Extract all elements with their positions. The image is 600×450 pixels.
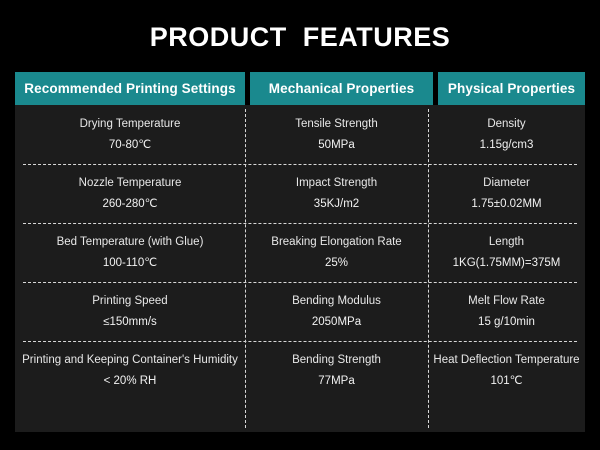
table-row: Bed Temperature (with Glue) 100-110℃ Bre… xyxy=(15,223,585,282)
cell-value: ≤150mm/s xyxy=(103,315,157,329)
cell-value: 100-110℃ xyxy=(103,256,157,270)
cell-label: Bed Temperature (with Glue) xyxy=(57,235,204,249)
cell-label: Nozzle Temperature xyxy=(79,176,182,190)
cell-value: < 20% RH xyxy=(104,374,157,388)
table-row: Printing and Keeping Container's Humidit… xyxy=(15,341,585,400)
table-cell: Impact Strength 35KJ/m2 xyxy=(245,164,428,223)
table-cell: Bed Temperature (with Glue) 100-110℃ xyxy=(15,223,245,282)
table-cell: Bending Strength 77MPa xyxy=(245,341,428,400)
table-body: Drying Temperature 70-80℃ Tensile Streng… xyxy=(15,105,585,432)
cell-value: 260-280℃ xyxy=(102,197,157,211)
table-cell: Printing Speed ≤150mm/s xyxy=(15,282,245,341)
table-cell: Diameter 1.75±0.02MM xyxy=(428,164,585,223)
page-title: PRODUCT FEATURES xyxy=(0,22,600,53)
cell-label: Breaking Elongation Rate xyxy=(271,235,401,249)
cell-label: Density xyxy=(487,117,525,131)
table-cell: Tensile Strength 50MPa xyxy=(245,105,428,164)
cell-label: Drying Temperature xyxy=(80,117,181,131)
table-cell: Breaking Elongation Rate 25% xyxy=(245,223,428,282)
cell-label: Printing and Keeping Container's Humidit… xyxy=(22,353,238,367)
table-row: Printing Speed ≤150mm/s Bending Modulus … xyxy=(15,282,585,341)
cell-value: 2050MPa xyxy=(312,315,361,329)
features-table: Recommended Printing Settings Mechanical… xyxy=(15,72,585,432)
table-cell: Length 1KG(1.75MM)=375M xyxy=(428,223,585,282)
cell-label: Melt Flow Rate xyxy=(468,294,545,308)
column-header-mechanical-properties: Mechanical Properties xyxy=(250,72,433,105)
cell-label: Heat Deflection Temperature xyxy=(433,353,579,367)
cell-value: 101℃ xyxy=(490,374,522,388)
cell-value: 25% xyxy=(325,256,348,270)
cell-label: Bending Modulus xyxy=(292,294,381,308)
table-header-row: Recommended Printing Settings Mechanical… xyxy=(15,72,585,105)
table-cell: Bending Modulus 2050MPa xyxy=(245,282,428,341)
cell-value: 35KJ/m2 xyxy=(314,197,359,211)
table-cell: Heat Deflection Temperature 101℃ xyxy=(428,341,585,400)
table-cell: Printing and Keeping Container's Humidit… xyxy=(15,341,245,400)
cell-label: Printing Speed xyxy=(92,294,167,308)
table-row: Drying Temperature 70-80℃ Tensile Streng… xyxy=(15,105,585,164)
table-cell: Nozzle Temperature 260-280℃ xyxy=(15,164,245,223)
table-cell: Drying Temperature 70-80℃ xyxy=(15,105,245,164)
cell-label: Length xyxy=(489,235,524,249)
cell-label: Diameter xyxy=(483,176,530,190)
cell-label: Tensile Strength xyxy=(295,117,377,131)
cell-value: 1.75±0.02MM xyxy=(471,197,541,211)
cell-value: 1.15g/cm3 xyxy=(480,138,534,152)
cell-label: Bending Strength xyxy=(292,353,381,367)
cell-value: 77MPa xyxy=(318,374,354,388)
cell-value: 50MPa xyxy=(318,138,354,152)
product-features-page: PRODUCT FEATURES Recommended Printing Se… xyxy=(0,0,600,450)
table-cell: Melt Flow Rate 15 g/10min xyxy=(428,282,585,341)
table-row: Nozzle Temperature 260-280℃ Impact Stren… xyxy=(15,164,585,223)
table-cell: Density 1.15g/cm3 xyxy=(428,105,585,164)
column-header-physical-properties: Physical Properties xyxy=(438,72,585,105)
cell-value: 1KG(1.75MM)=375M xyxy=(453,256,561,270)
cell-value: 15 g/10min xyxy=(478,315,535,329)
cell-value: 70-80℃ xyxy=(109,138,151,152)
cell-label: Impact Strength xyxy=(296,176,377,190)
column-header-recommended-printing-settings: Recommended Printing Settings xyxy=(15,72,245,105)
